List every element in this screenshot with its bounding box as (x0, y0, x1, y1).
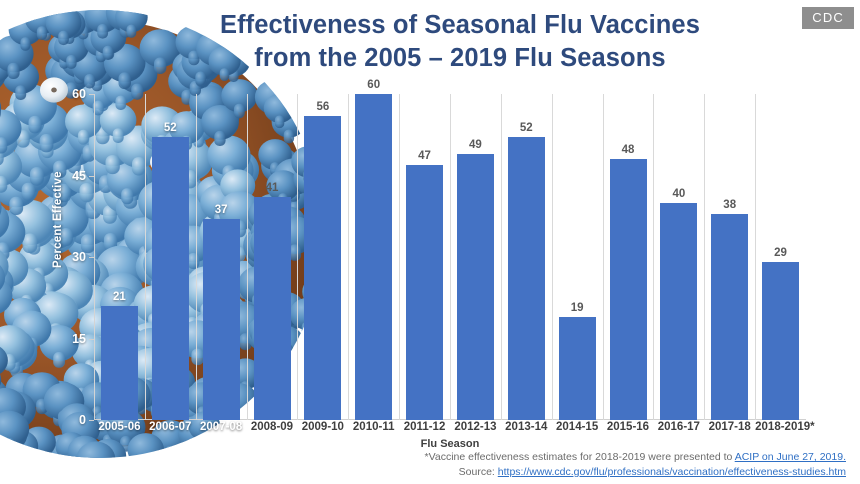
source-url-link[interactable]: https://www.cdc.gov/flu/professionals/va… (498, 466, 846, 478)
bar-value-label: 48 (603, 144, 654, 156)
title-line-1: Effectiveness of Seasonal Flu Vaccines (150, 9, 770, 42)
bar[interactable] (457, 154, 494, 420)
acip-link[interactable]: ACIP on June 27, 2019. (735, 451, 846, 463)
bar[interactable] (660, 203, 697, 420)
bar[interactable] (711, 214, 748, 420)
x-axis-categories: 2005-062006-072007-082008-092009-102010-… (94, 421, 806, 439)
bar-value-label: 49 (450, 139, 501, 151)
x-axis-title: Flu Season (94, 438, 806, 450)
title-line-2: from the 2005 – 2019 Flu Seasons (150, 42, 770, 75)
page-title: Effectiveness of Seasonal Flu Vaccines f… (150, 9, 770, 74)
bar-value-label: 21 (94, 291, 145, 303)
bar-group[interactable]: 37 (196, 94, 247, 420)
cdc-logo-badge: CDC (802, 7, 854, 29)
x-category-label: 2015-16 (603, 421, 654, 433)
bar-value-label: 52 (145, 122, 196, 134)
x-category-label: 2017-18 (704, 421, 755, 433)
bar-value-label: 52 (501, 122, 552, 134)
x-category-label: 2011-12 (399, 421, 450, 433)
bar-group[interactable]: 49 (450, 94, 501, 420)
x-category-label: 2014-15 (552, 421, 603, 433)
bar-group[interactable]: 52 (145, 94, 196, 420)
bar-value-label: 40 (653, 188, 704, 200)
bar[interactable] (101, 306, 138, 420)
footnote-line-2: Source: https://www.cdc.gov/flu/professi… (326, 465, 846, 480)
y-tick-0: 0 (79, 413, 86, 427)
bar-value-label: 56 (297, 101, 348, 113)
bar-value-label: 38 (704, 199, 755, 211)
footnote-text: *Vaccine effectiveness estimates for 201… (425, 451, 735, 463)
bar-group[interactable]: 38 (704, 94, 755, 420)
bar-value-label: 19 (552, 302, 603, 314)
y-tick-60: 60 (72, 87, 86, 101)
x-category-label: 2010-11 (348, 421, 399, 433)
x-category-label: 2012-13 (450, 421, 501, 433)
bar-value-label: 47 (399, 150, 450, 162)
bar[interactable] (355, 94, 392, 420)
y-tick-30: 30 (72, 250, 86, 264)
x-category-label: 2009-10 (297, 421, 348, 433)
y-tick-15: 15 (72, 332, 86, 346)
bar-group[interactable]: 41 (247, 94, 298, 420)
bar[interactable] (304, 116, 341, 420)
source-label: Source: (459, 466, 498, 478)
bar[interactable] (406, 165, 443, 420)
bar-group[interactable]: 29 (755, 94, 806, 420)
x-category-label: 2008-09 (247, 421, 298, 433)
bar-group[interactable]: 60 (348, 94, 399, 420)
bar-group[interactable]: 21 (94, 94, 145, 420)
footnote-block: *Vaccine effectiveness estimates for 201… (326, 450, 846, 480)
bar[interactable] (559, 317, 596, 420)
bar-group[interactable]: 52 (501, 94, 552, 420)
bar-value-label: 37 (196, 204, 247, 216)
x-category-label: 2005-06 (94, 421, 145, 433)
bar-value-label: 60 (348, 79, 399, 91)
bar-group[interactable]: 19 (552, 94, 603, 420)
bar[interactable] (152, 137, 189, 420)
bar[interactable] (508, 137, 545, 420)
bar[interactable] (254, 197, 291, 420)
x-category-label: 2018-2019* (755, 421, 806, 433)
bar-group[interactable]: 56 (297, 94, 348, 420)
x-category-label: 2007-08 (196, 421, 247, 433)
bar-group[interactable]: 40 (653, 94, 704, 420)
bar[interactable] (762, 262, 799, 420)
bar[interactable] (610, 159, 647, 420)
x-category-label: 2016-17 (653, 421, 704, 433)
bar-group[interactable]: 47 (399, 94, 450, 420)
x-category-label: 2006-07 (145, 421, 196, 433)
bar-value-label: 29 (755, 247, 806, 259)
chart-plot-area: 015304560 2152374156604749521948403829 (94, 94, 806, 420)
y-tick-45: 45 (72, 169, 86, 183)
footnote-line-1: *Vaccine effectiveness estimates for 201… (326, 450, 846, 465)
x-category-label: 2013-14 (501, 421, 552, 433)
slide-canvas: CDC Effectiveness of Seasonal Flu Vaccin… (0, 0, 860, 484)
bar[interactable] (203, 219, 240, 420)
y-axis-title: Percent Effective (52, 171, 64, 268)
bar-value-label: 41 (247, 182, 298, 194)
bar-group[interactable]: 48 (603, 94, 654, 420)
